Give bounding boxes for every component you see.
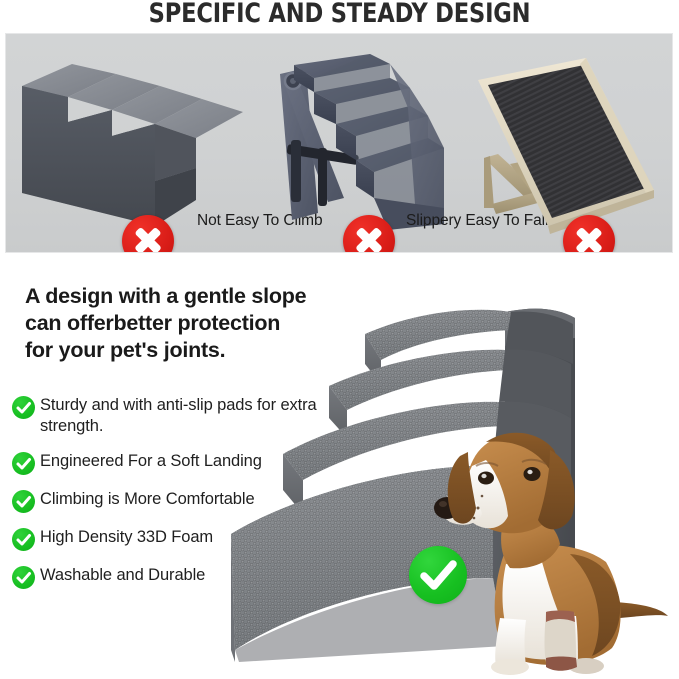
bullet-text: Climbing is More Comfortable <box>40 490 255 508</box>
list-item: Climbing is More Comfortable <box>8 489 358 514</box>
product-plastic-folding-stairs <box>258 48 448 238</box>
red-x-icon <box>343 215 395 253</box>
green-check-icon <box>12 528 35 551</box>
wooden-carpet-ramp-illustration <box>454 48 669 243</box>
feature-bullet-list: Sturdy and with anti-slip pads for extra… <box>8 395 358 603</box>
list-item: Washable and Durable <box>8 565 358 590</box>
red-x-icon <box>122 215 174 253</box>
red-x-icon <box>563 215 615 253</box>
page-title: SPECIFIC AND STEADY DESIGN <box>24 0 655 30</box>
bullet-text: Washable and Durable <box>40 566 205 584</box>
list-item: High Density 33D Foam <box>8 527 358 552</box>
dog-illustration <box>420 404 670 676</box>
green-check-icon <box>12 490 35 513</box>
green-check-icon <box>12 452 35 475</box>
product-wooden-carpet-ramp <box>454 48 669 238</box>
list-item: Engineered For a Soft Landing <box>8 451 358 476</box>
bullet-text: High Density 33D Foam <box>40 528 213 546</box>
green-check-icon <box>12 396 35 419</box>
headline-line-1: A design with a gentle slope <box>25 283 355 310</box>
infographic-page: SPECIFIC AND STEADY DESIGN <box>0 0 679 679</box>
headline-line-3: for your pet's joints. <box>25 337 355 364</box>
list-item: Sturdy and with anti-slip pads for extra… <box>8 395 358 438</box>
comparison-panel: Not Easy To Climb <box>5 33 673 253</box>
bullet-text: Sturdy and with anti-slip pads for extra… <box>40 396 317 435</box>
product-grey-foam-stairs <box>12 50 252 235</box>
green-check-icon <box>12 566 35 589</box>
bullet-text: Engineered For a Soft Landing <box>40 452 262 470</box>
beagle-dog-with-bandaged-leg <box>420 404 670 676</box>
feature-headline: A design with a gentle slope can offerbe… <box>25 283 355 364</box>
grey-foam-stairs-illustration <box>12 50 252 235</box>
headline-line-2: can offerbetter protection <box>25 310 355 337</box>
